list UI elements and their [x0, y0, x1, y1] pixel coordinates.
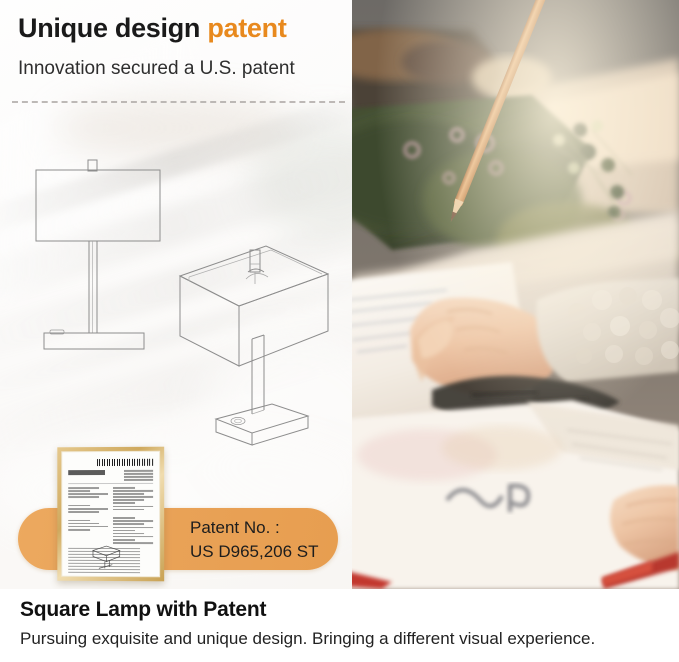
- patent-certificate-frame: [57, 447, 164, 582]
- certificate-doc-type: [68, 470, 121, 475]
- headline-main-text: Unique design: [18, 13, 207, 43]
- left-info-panel: Unique design patent Innovation secured …: [0, 0, 352, 589]
- page-subtitle: Innovation secured a U.S. patent: [18, 58, 295, 80]
- lamp-front-elevation-drawing: [28, 148, 168, 363]
- patent-label: Patent No. :: [190, 516, 340, 540]
- barcode: [97, 459, 153, 466]
- patent-certificate-page: [61, 451, 160, 578]
- lamp-perspective-drawing: [176, 236, 346, 456]
- lifestyle-photo: [352, 0, 679, 589]
- page-title: Unique design patent: [18, 13, 287, 44]
- footer-section: Square Lamp with Patent Pursuing exquisi…: [0, 589, 679, 662]
- dashed-divider: [12, 101, 345, 103]
- product-tagline: Pursuing exquisite and unique design. Br…: [20, 629, 595, 649]
- patent-value: US D965,206 ST: [190, 540, 340, 564]
- patent-number-text: Patent No. : US D965,206 ST: [190, 516, 340, 564]
- headline-accent-text: patent: [207, 13, 286, 43]
- certificate-figure: [87, 540, 132, 570]
- product-feature-banner: Unique design patent Innovation secured …: [0, 0, 679, 662]
- hero-section: Unique design patent Innovation secured …: [0, 0, 679, 589]
- product-title: Square Lamp with Patent: [20, 598, 266, 622]
